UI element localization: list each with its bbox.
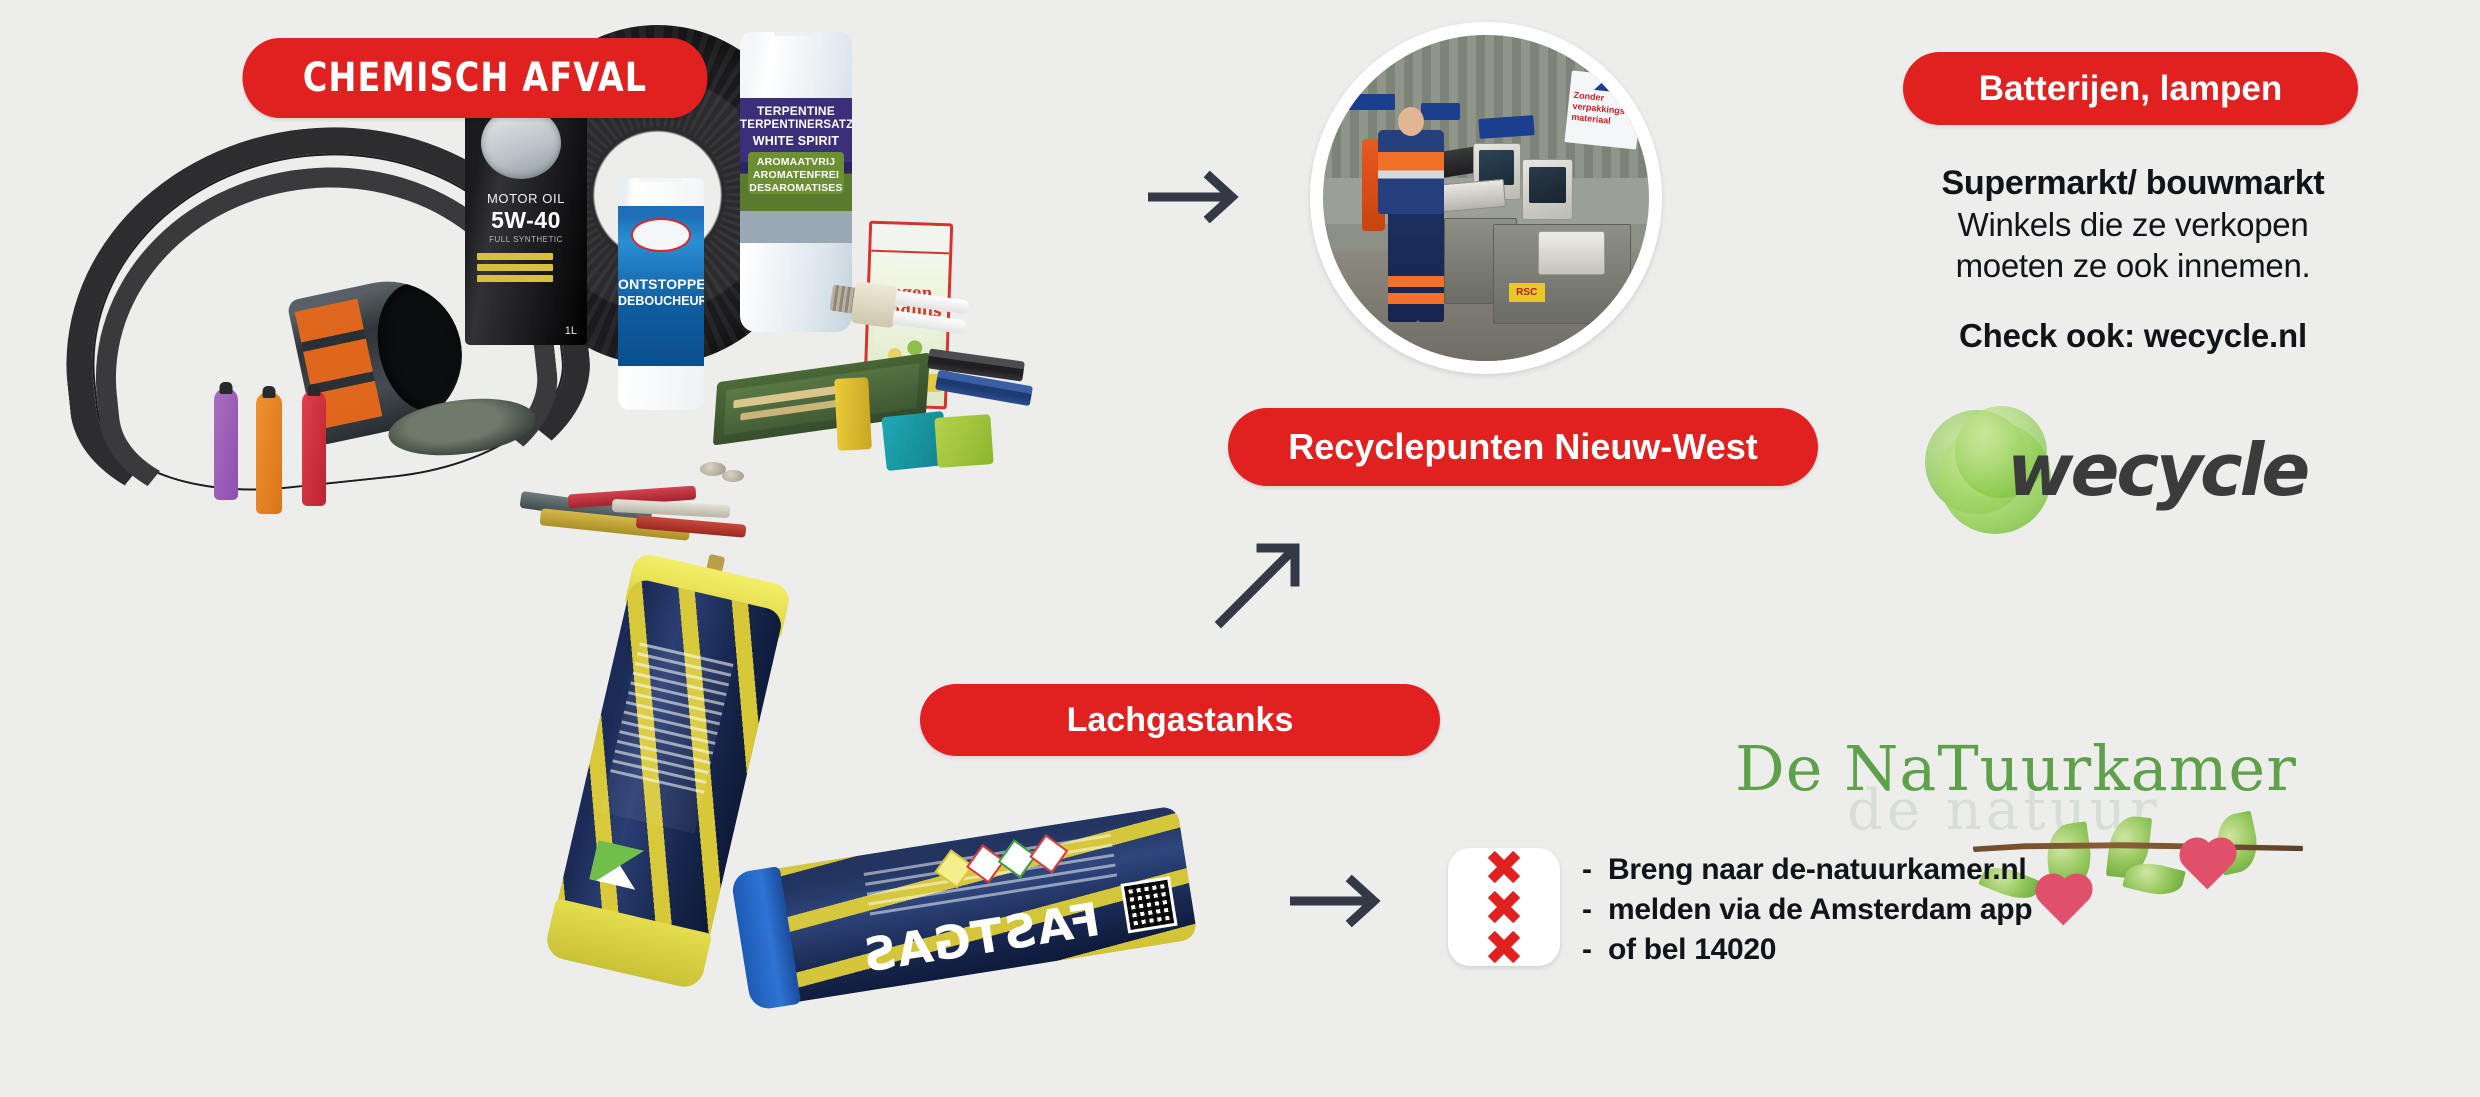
badge-recyclepunten-nieuw-west[interactable]: Recyclepunten Nieuw-West	[1228, 408, 1818, 486]
battery-line-1: Supermarkt/ bouwmarkt	[1898, 163, 2368, 204]
wecycle-logo[interactable]: wecycle	[1925, 404, 2345, 534]
terpentine-line5: AROMATENFREI	[740, 169, 852, 181]
list-dash: -	[1582, 930, 1608, 970]
motor-oil-label: MOTOR OIL	[465, 191, 587, 206]
qr-code-icon	[1120, 876, 1177, 933]
terpentine-line6: DESAROMATISES	[740, 182, 852, 194]
motor-oil-sub: FULL SYNTHETIC	[465, 235, 587, 244]
motor-oil-bottle: MOTOR OIL 5W-40 FULL SYNTHETIC 1L	[465, 95, 587, 345]
blue-arrow-icon	[1594, 75, 1624, 94]
drain-cleaner-bottle: ONTSTOPPER DEBOUCHEUR	[618, 178, 704, 410]
vape-mouthpiece	[263, 386, 276, 398]
terpentine-line1: TERPENTINE	[740, 104, 852, 118]
badge-chemisch-afval[interactable]: CHEMISCH AFVAL	[243, 38, 708, 118]
list-item-label: melden via de Amsterdam app	[1608, 893, 2032, 926]
vape-mouthpiece	[220, 382, 233, 394]
blue-sign	[1421, 103, 1460, 119]
tank-label-text	[601, 642, 734, 833]
crate-label: RSC	[1509, 283, 1545, 303]
list-item-label: Breng naar de-natuurkamer.nl	[1608, 853, 2026, 886]
andreas-cross-icon	[1487, 930, 1521, 964]
battery-instructions: Supermarkt/ bouwmarkt Winkels die ze ver…	[1898, 163, 2368, 355]
photo-image: Zonder verpakkings materiaal RSC	[1323, 35, 1649, 361]
motor-oil-volume: 1L	[565, 325, 577, 337]
ontstopper-line1: ONTSTOPPER	[618, 276, 704, 292]
lamp-tube	[892, 310, 967, 334]
discarded-printer	[1538, 231, 1605, 275]
andreas-cross-icon	[1487, 890, 1521, 924]
badge-batterijen-lampen[interactable]: Batterijen, lampen	[1903, 52, 2358, 125]
amsterdam-crosses-icon[interactable]	[1448, 848, 1560, 966]
recyclepunt-photo: Zonder verpakkings materiaal RSC	[1310, 22, 1662, 374]
motor-oil-grade: 5W-40	[465, 207, 587, 234]
battery-line-3: moeten ze ook innemen.	[1898, 245, 2368, 287]
disposable-vape-orange	[256, 392, 282, 514]
heart-icon	[2185, 843, 2232, 890]
wecycle-wordmark: wecycle	[2007, 428, 2307, 512]
disposable-vape-purple	[214, 388, 238, 500]
worker-leg	[1418, 205, 1444, 322]
list-item-label: of bel 14020	[1608, 933, 1776, 966]
motor-oil-spec-bars	[477, 253, 553, 286]
worker-torso	[1378, 130, 1443, 215]
heart-icon	[2041, 879, 2088, 926]
amsterdam-instruction-list: -Breng naar de-natuurkamer.nl -melden vi…	[1582, 848, 2032, 970]
blue-sign	[1343, 94, 1395, 110]
worker-leg	[1388, 205, 1417, 322]
blue-sign	[1479, 115, 1536, 138]
amsterdam-contact-block: -Breng naar de-natuurkamer.nl -melden vi…	[1448, 848, 2032, 970]
battery-check-line: Check ook: wecycle.nl	[1898, 317, 2368, 355]
tank-body: FASTGAS	[752, 805, 1198, 1006]
battery-line-2: Winkels die ze verkopen	[1898, 204, 2368, 246]
arrow-up-right-icon	[1215, 538, 1313, 635]
ghs-hazard-pictograms	[589, 840, 658, 893]
vape-mouthpiece	[308, 384, 321, 396]
bottle-cap	[774, 32, 818, 36]
d-cell-battery	[834, 377, 872, 451]
ontstopper-line2: DEBOUCHEUR	[618, 294, 704, 308]
list-item: -Breng naar de-natuurkamer.nl	[1582, 850, 2032, 890]
box-header	[871, 224, 950, 255]
list-item: -of bel 14020	[1582, 930, 2032, 970]
white-sign-text: Zonder verpakkings materiaal	[1570, 90, 1626, 129]
hi-vis-band	[1388, 276, 1443, 287]
9v-battery	[934, 414, 993, 468]
natuurkamer-wordmark: De NaTuurkamer	[1735, 732, 2297, 805]
white-instruction-sign: Zonder verpakkings materiaal	[1564, 71, 1643, 150]
hi-vis-band	[1388, 293, 1443, 304]
infographic-canvas: MOTOR OIL 5W-40 FULL SYNTHETIC 1L ONTSTO…	[0, 0, 2480, 1097]
andreas-cross-icon	[1487, 850, 1521, 884]
list-dash: -	[1582, 890, 1608, 930]
badge-lachgastanks[interactable]: Lachgastanks	[920, 684, 1440, 756]
arrow-right-icon	[1148, 168, 1254, 231]
brand-oval	[631, 218, 691, 252]
terpentine-line4: AROMAATVRIJ	[740, 156, 852, 168]
nitrous-oxide-tank-lying: FASTGAS	[752, 805, 1198, 1006]
disposable-vape-red	[302, 390, 326, 506]
terpentine-line3: WHITE SPIRIT	[740, 134, 852, 148]
button-cell-battery	[722, 470, 744, 482]
arrow-right-icon	[1290, 872, 1396, 935]
crt-monitor	[1522, 159, 1573, 220]
list-item: -melden via de Amsterdam app	[1582, 890, 2032, 930]
bottle-cap	[639, 178, 683, 182]
terpentine-line2: TERPENTINERSATZ	[740, 119, 852, 131]
list-dash: -	[1582, 850, 1608, 890]
worker-head	[1398, 107, 1424, 136]
